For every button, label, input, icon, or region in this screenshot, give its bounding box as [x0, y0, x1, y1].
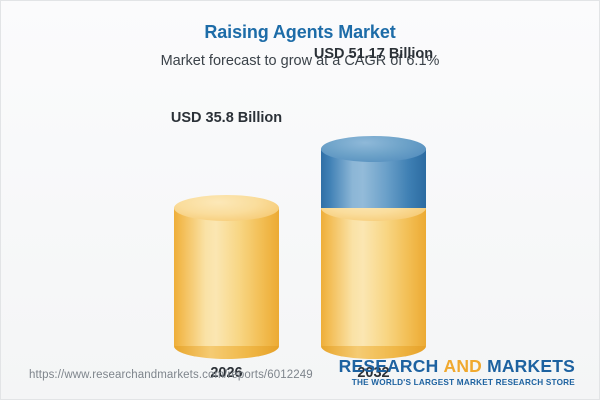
brand-logo[interactable]: RESEARCH AND MARKETS THE WORLD'S LARGEST…	[339, 356, 575, 388]
cylinder-body-2026	[174, 208, 279, 346]
cylinder-2032[interactable]	[321, 149, 426, 346]
brand-logo-wordmark: RESEARCH AND MARKETS	[339, 356, 575, 376]
cylinder-top-ellipse-2032	[321, 136, 426, 162]
chart-plot-area: USD 35.8 Billion 2026 USD 51.17 Billion	[1, 86, 599, 346]
brand-tagline: THE WORLD'S LARGEST MARKET RESEARCH STOR…	[339, 377, 575, 388]
report-url-link[interactable]: https://www.researchandmarkets.com/repor…	[29, 368, 313, 382]
brand-word-and: AND	[443, 356, 482, 376]
brand-word-markets: MARKETS	[487, 356, 575, 376]
infographic-card: Raising Agents Market Market forecast to…	[0, 0, 600, 400]
footer: https://www.researchandmarkets.com/repor…	[1, 347, 599, 399]
cylinder-segment-base-2032	[321, 208, 426, 346]
page-title: Raising Agents Market	[1, 21, 599, 43]
chart-subtitle: Market forecast to grow at a CAGR of 6.1…	[1, 52, 599, 70]
cylinder-body-base-2032	[321, 208, 426, 346]
chart-header: Raising Agents Market Market forecast to…	[1, 1, 599, 70]
cylinder-segment-base-2026	[174, 208, 279, 346]
bar-group-2026: USD 35.8 Billion 2026	[174, 121, 279, 346]
brand-word-research: RESEARCH	[339, 356, 439, 376]
bar-group-2032: USD 51.17 Billion 2032	[321, 121, 426, 346]
cylinder-top-ellipse-2026	[174, 195, 279, 221]
cylinder-2026[interactable]	[174, 208, 279, 346]
cylinder-segment-growth-2032	[321, 149, 426, 208]
bar-value-label-2032: USD 51.17 Billion	[314, 45, 433, 63]
bar-value-label-2026: USD 35.8 Billion	[171, 109, 282, 127]
